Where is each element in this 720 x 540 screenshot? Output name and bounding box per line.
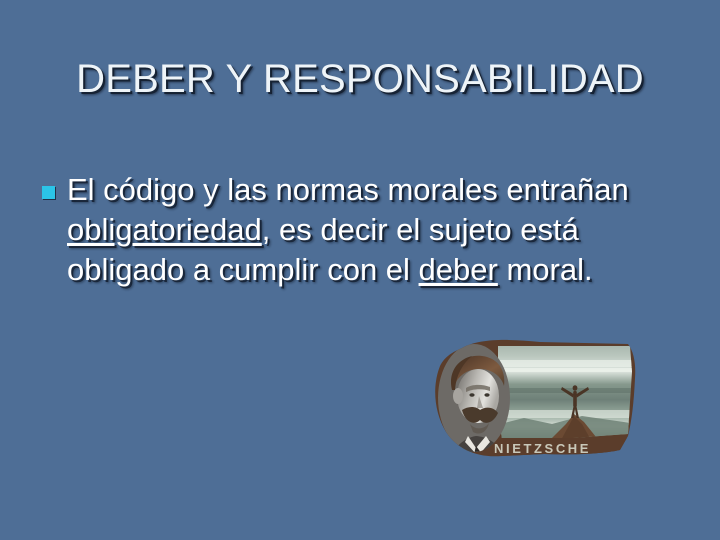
bullet-segment-plain-1: El código y las normas morales entrañan: [67, 172, 629, 207]
slide-body: El código y las normas morales entrañan …: [42, 170, 682, 290]
bullet-segment-underlined-obligatoriedad: obligatoriedad: [67, 212, 262, 247]
blob-shape: NIETZSCHE: [432, 338, 638, 472]
landscape-scene: [492, 338, 638, 448]
bullet-segment-plain-3: moral.: [498, 252, 593, 287]
nietzsche-illustration: NIETZSCHE: [432, 338, 638, 472]
slide-canvas: DEBER Y RESPONSABILIDAD El código y las …: [0, 0, 720, 540]
nietzsche-image: NIETZSCHE: [432, 338, 638, 472]
bullet-text: El código y las normas morales entrañan …: [67, 170, 682, 290]
bullet-segment-underlined-deber: deber: [419, 252, 498, 287]
slide-title: DEBER Y RESPONSABILIDAD: [0, 55, 720, 103]
nietzsche-caption: NIETZSCHE: [494, 441, 591, 456]
square-bullet-icon: [42, 186, 55, 199]
bullet-item: El código y las normas morales entrañan …: [42, 170, 682, 290]
